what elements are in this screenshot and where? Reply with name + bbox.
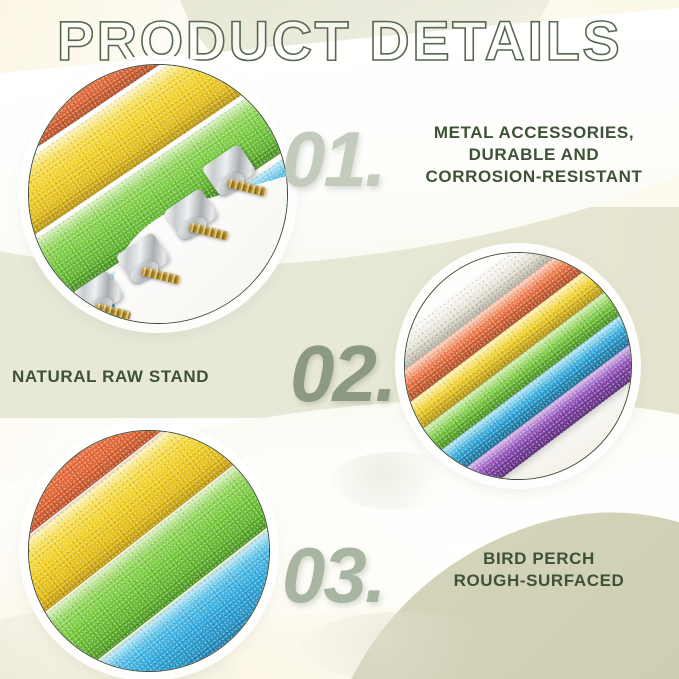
perch-metal-hardware-photo [28,64,288,324]
feature-number-03: 03. [282,536,384,614]
perch-wood-ends-photo [404,252,632,480]
feature-number-01: 01. [282,120,384,198]
caption-line: DURABLE AND [400,144,668,166]
caption-line: ROUGH-SURFACED [412,570,666,592]
feature-caption-01: METAL ACCESSORIES, DURABLE AND CORROSION… [400,122,668,187]
caption-line: METAL ACCESSORIES, [400,122,668,144]
background-bokeh-blur [300,612,510,679]
page-title: PRODUCT DETAILS [0,8,679,73]
feature-caption-02: NATURAL RAW STAND [12,366,274,388]
perch-rough-surface-photo [28,430,270,672]
feature-number-02: 02. [290,334,395,414]
feature-caption-03: BIRD PERCH ROUGH-SURFACED [412,548,666,592]
product-details-poster: PRODUCT DETAILS [0,0,679,679]
caption-line: CORROSION-RESISTANT [400,166,668,188]
caption-line: BIRD PERCH [412,548,666,570]
caption-line: NATURAL RAW STAND [12,366,274,388]
